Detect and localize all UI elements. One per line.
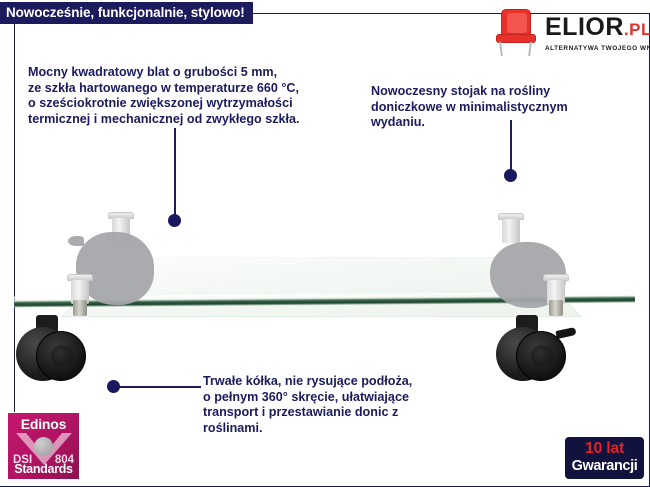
caster-wheel-left bbox=[10, 315, 102, 389]
chair-leg-left bbox=[499, 42, 503, 56]
socket-tube bbox=[502, 219, 520, 243]
callout-text-stand-style: Nowoczesny stojak na rośliny doniczkowe … bbox=[371, 84, 636, 131]
leg-bolt-right bbox=[549, 300, 563, 316]
caster-lever-reflection-left bbox=[68, 236, 84, 246]
brand-tagline: ALTERNATYWA TWOJEGO WNĘTRZA bbox=[545, 44, 650, 53]
brand-name: ELIOR.PL bbox=[545, 14, 650, 43]
caster-lock-lever bbox=[555, 327, 576, 339]
caster-wheel-right bbox=[490, 315, 590, 389]
callout-text-glass-top: Mocny kwadratowy blat o grubości 5 mm, z… bbox=[28, 65, 358, 127]
edinos-badge-standards: Standards bbox=[8, 462, 79, 476]
leg-bolt-left bbox=[73, 300, 87, 316]
product-image-glass-plant-stand bbox=[0, 150, 650, 440]
brand-name-tld: .PL bbox=[624, 20, 650, 39]
brand-name-main: ELIOR bbox=[545, 13, 624, 41]
chair-leg-right bbox=[528, 42, 532, 56]
warranty-years: 10 lat bbox=[566, 439, 643, 458]
brand-logo: ELIOR.PL ALTERNATYWA TWOJEGO WNĘTRZA bbox=[493, 6, 645, 60]
red-chair-icon bbox=[493, 9, 539, 57]
headline-banner: Nowocześnie, funkcjonalnie, stylowo! bbox=[0, 2, 253, 24]
edinos-badge-name: Edinos bbox=[8, 416, 79, 432]
edinos-standards-badge: Edinos DSI 804 Standards bbox=[7, 412, 80, 480]
chair-back-shape bbox=[501, 9, 531, 35]
caster-wheel-front-disc bbox=[36, 331, 86, 381]
warranty-badge: 10 lat Gwarancji bbox=[565, 437, 644, 479]
edinos-sphere-shape bbox=[34, 437, 53, 456]
socket-right-rear bbox=[498, 213, 524, 243]
warranty-label: Gwarancji bbox=[566, 457, 643, 476]
brand-logo-text: ELIOR.PL ALTERNATYWA TWOJEGO WNĘTRZA bbox=[545, 14, 650, 53]
product-infographic: Nowocześnie, funkcjonalnie, stylowo! ELI… bbox=[0, 0, 650, 487]
